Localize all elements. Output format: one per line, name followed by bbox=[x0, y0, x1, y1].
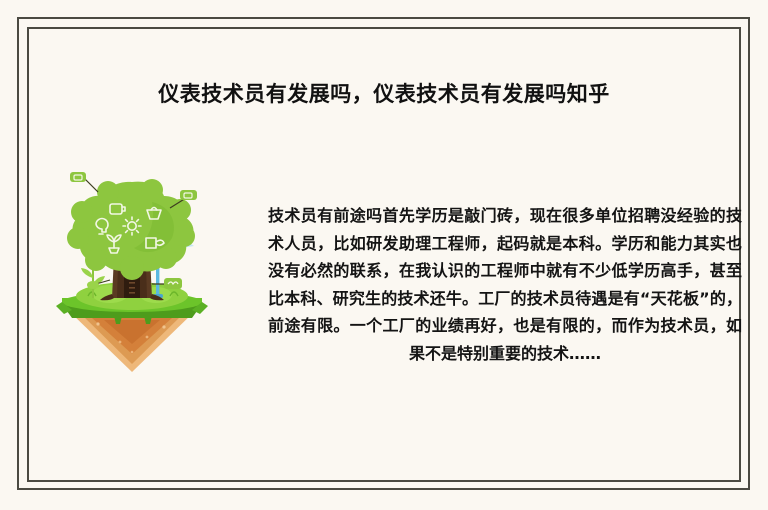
soil-cone-group bbox=[70, 312, 194, 372]
article-body-text: 技术员有前途吗首先学历是敲门砖，现在很多单位招聘没经验的技术人员，比如研发助理工… bbox=[268, 202, 742, 367]
eco-island-illustration bbox=[52, 172, 212, 372]
article-page: 仪表技术员有发展吗，仪表技术员有发展吗知乎 技术员有前途吗首先学历是敲门砖，现在… bbox=[0, 0, 768, 510]
eco-island-graphic bbox=[52, 172, 212, 372]
page-title: 仪表技术员有发展吗，仪表技术员有发展吗知乎 bbox=[0, 80, 768, 108]
